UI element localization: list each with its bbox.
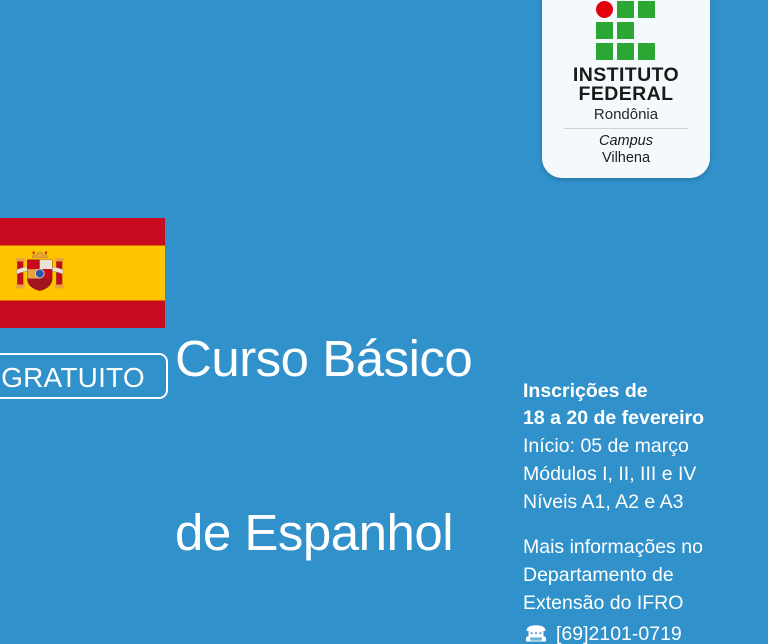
gratuito-label: GRATUITO (0, 362, 166, 394)
gratuito-badge: GRATUITO (0, 353, 168, 399)
info-panel: Inscrições de 18 a 20 de fevereiro Iníci… (523, 378, 763, 644)
phone-number: [69]2101-0719 (556, 622, 682, 644)
course-title: Curso Básico de Espanhol (175, 214, 472, 644)
course-levels: Níveis A1, A2 e A3 (523, 488, 763, 516)
enrollment-label: Inscrições de (523, 378, 763, 405)
logo-campus-label: Campus (542, 133, 710, 150)
ifro-logo-card: INSTITUTO FEDERAL Rondônia Campus Vilhen… (542, 0, 710, 178)
logo-divider (564, 128, 688, 129)
logo-state: Rondônia (542, 106, 710, 123)
course-title-line2: de Espanhol (175, 504, 472, 562)
more-info-line1: Mais informações no (523, 533, 763, 561)
more-info-line3: Extensão do IFRO (523, 589, 763, 617)
enrollment-dates: 18 a 20 de fevereiro (523, 405, 763, 432)
telephone-icon (523, 623, 549, 644)
more-info-line2: Departamento de (523, 561, 763, 589)
course-modules: Módulos I, II, III e IV (523, 460, 763, 488)
logo-institute-line1: INSTITUTO (542, 65, 710, 85)
course-start-date: Início: 05 de março (523, 432, 763, 460)
logo-institute-line2: FEDERAL (542, 84, 710, 104)
spain-flag (0, 218, 165, 328)
ifro-logo-mark (542, 0, 710, 62)
contact-row: [69]2101-0719 (523, 622, 763, 644)
logo-campus-name: Vilhena (542, 150, 710, 167)
more-info-block: Mais informações no Departamento de Exte… (523, 533, 763, 644)
poster-canvas: INSTITUTO FEDERAL Rondônia Campus Vilhen… (0, 0, 768, 644)
course-title-line1: Curso Básico (175, 330, 472, 388)
